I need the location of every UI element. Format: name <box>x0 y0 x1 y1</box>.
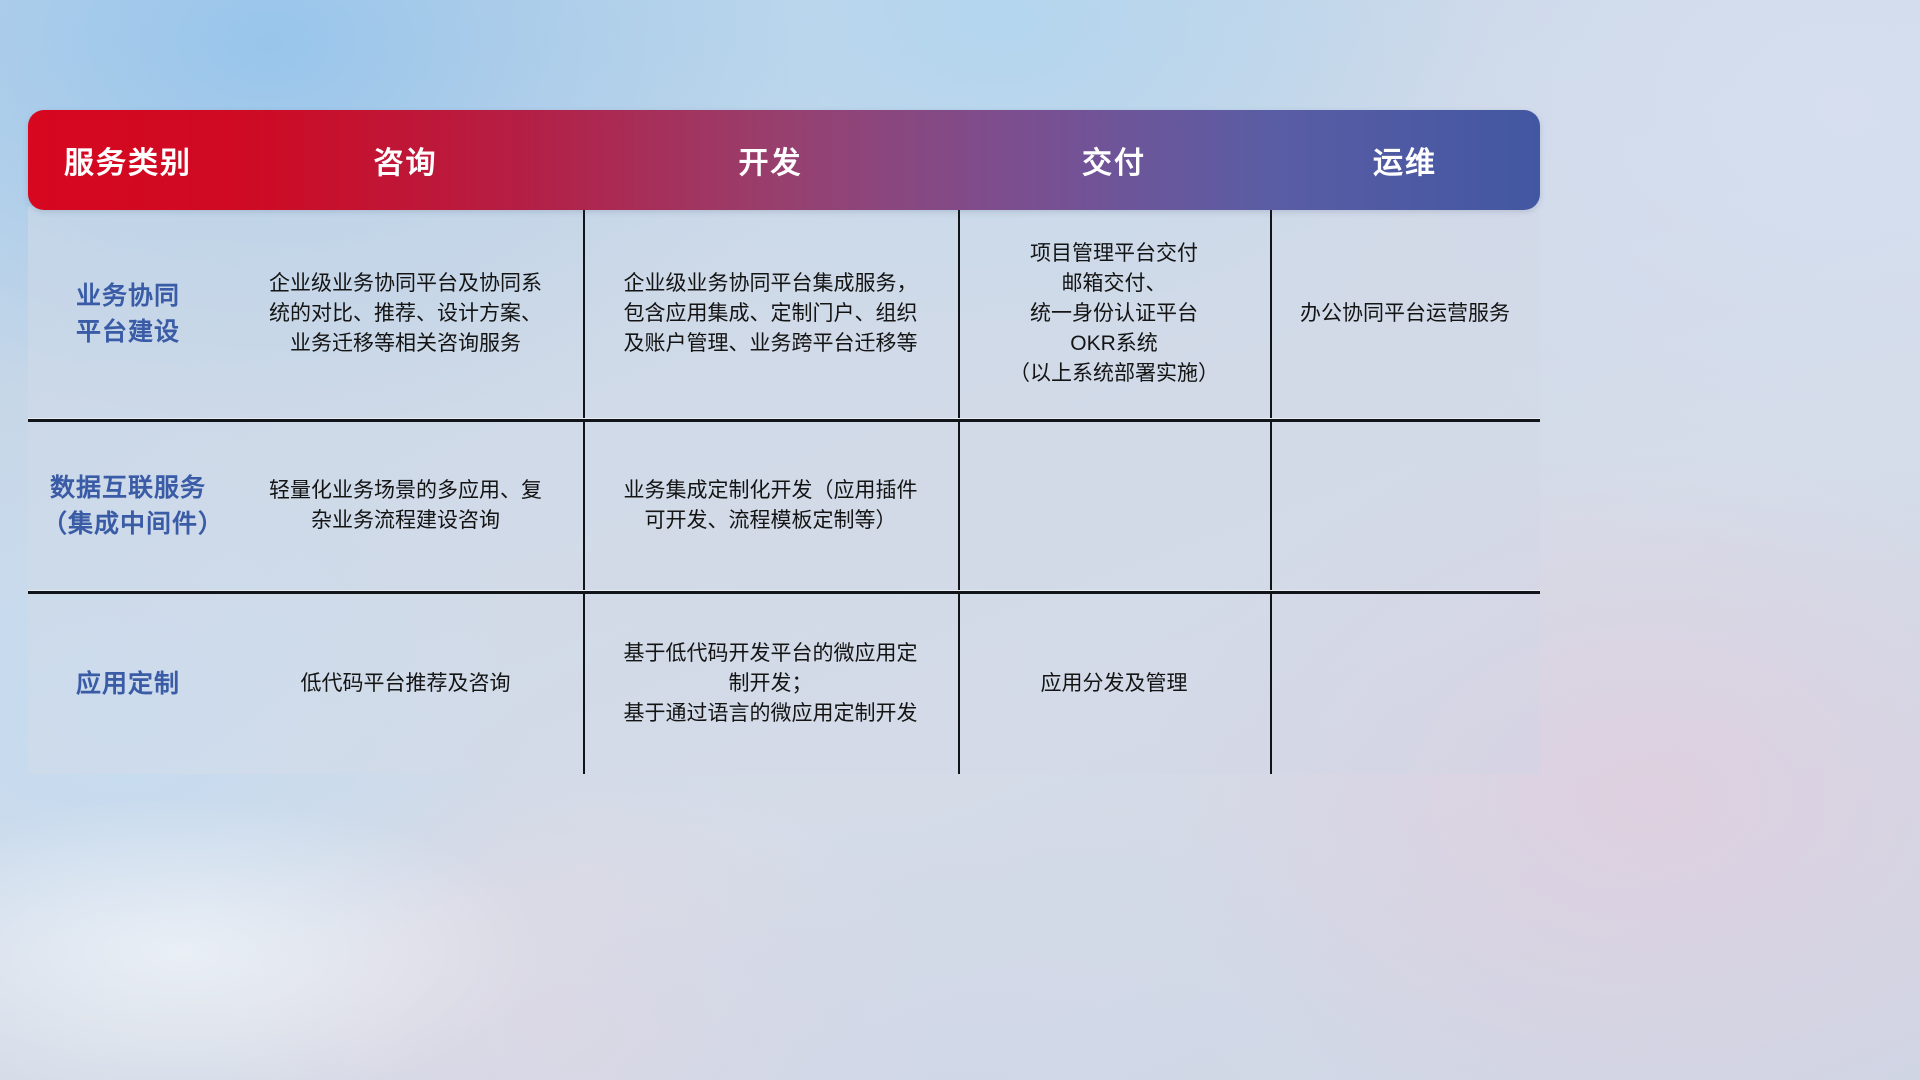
slide-canvas: 服务类别 咨询 开发 交付 运维 业务协同 平台建设 企业级业务协同平台及协同系… <box>0 0 1920 1080</box>
cell-ops-1: 办公协同平台运营服务 <box>1270 210 1540 418</box>
row-label-3: 应用定制 <box>28 594 228 774</box>
table-row: 应用定制 低代码平台推荐及咨询 基于低代码开发平台的微应用定 制开发； 基于通过… <box>28 594 1540 774</box>
column-divider-1 <box>583 594 585 774</box>
background-sheen <box>0 760 820 1080</box>
column-divider-2 <box>958 210 960 418</box>
header-cell-development: 开发 <box>583 110 958 210</box>
column-divider-2 <box>958 594 960 774</box>
header-cell-ops: 运维 <box>1270 110 1540 210</box>
column-divider-3 <box>1270 594 1272 774</box>
cell-delivery-2 <box>958 422 1270 590</box>
row-label-2: 数据互联服务 （集成中间件） <box>28 422 228 590</box>
header-cell-category: 服务类别 <box>28 110 228 210</box>
service-matrix-table: 服务类别 咨询 开发 交付 运维 业务协同 平台建设 企业级业务协同平台及协同系… <box>28 110 1540 774</box>
cell-delivery-1: 项目管理平台交付 邮箱交付、 统一身份认证平台 OKR系统 （以上系统部署实施） <box>958 210 1270 418</box>
header-cell-consulting: 咨询 <box>228 110 583 210</box>
table-header-row: 服务类别 咨询 开发 交付 运维 <box>28 110 1540 210</box>
cell-consulting-2: 轻量化业务场景的多应用、复 杂业务流程建设咨询 <box>228 422 583 590</box>
cell-consulting-1: 企业级业务协同平台及协同系 统的对比、推荐、设计方案、 业务迁移等相关咨询服务 <box>228 210 583 418</box>
column-divider-3 <box>1270 422 1272 590</box>
table-row: 业务协同 平台建设 企业级业务协同平台及协同系 统的对比、推荐、设计方案、 业务… <box>28 210 1540 418</box>
cell-development-3: 基于低代码开发平台的微应用定 制开发； 基于通过语言的微应用定制开发 <box>583 594 958 774</box>
column-divider-1 <box>583 422 585 590</box>
cell-ops-3 <box>1270 594 1540 774</box>
cell-delivery-3: 应用分发及管理 <box>958 594 1270 774</box>
cell-ops-2 <box>1270 422 1540 590</box>
column-divider-3 <box>1270 210 1272 418</box>
table-row: 数据互联服务 （集成中间件） 轻量化业务场景的多应用、复 杂业务流程建设咨询 业… <box>28 422 1540 590</box>
cell-development-1: 企业级业务协同平台集成服务， 包含应用集成、定制门户、组织 及账户管理、业务跨平… <box>583 210 958 418</box>
cell-development-2: 业务集成定制化开发（应用插件 可开发、流程模板定制等） <box>583 422 958 590</box>
row-label-1: 业务协同 平台建设 <box>28 210 228 418</box>
column-divider-2 <box>958 422 960 590</box>
table-body: 业务协同 平台建设 企业级业务协同平台及协同系 统的对比、推荐、设计方案、 业务… <box>28 206 1540 774</box>
header-cell-delivery: 交付 <box>958 110 1270 210</box>
column-divider-1 <box>583 210 585 418</box>
cell-consulting-3: 低代码平台推荐及咨询 <box>228 594 583 774</box>
